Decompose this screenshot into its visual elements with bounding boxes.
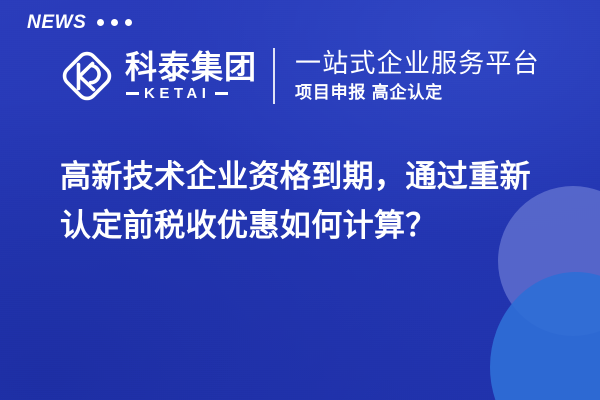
news-dot-icon — [97, 19, 104, 26]
ketai-diamond-k-logo-icon — [58, 47, 116, 105]
brand-header: 科泰集团 KETAI 一站式企业服务平台 项目申报 高企认定 — [58, 42, 540, 110]
brand-name-cn: 科泰集团 — [125, 51, 257, 84]
headline-block: 高新技术企业资格到期，通过重新 认定前税收优惠如何计算？ — [60, 152, 570, 250]
headline-line-1: 高新技术企业资格到期，通过重新 — [60, 152, 570, 201]
wordmark-rule-left — [126, 92, 139, 95]
news-dots-icon — [97, 19, 132, 26]
brand-divider — [273, 48, 275, 104]
wordmark-rule-right — [215, 92, 228, 95]
slogan-block: 一站式企业服务平台 项目申报 高企认定 — [295, 49, 540, 103]
slogan-secondary: 项目申报 高企认定 — [295, 82, 540, 103]
slogan-primary: 一站式企业服务平台 — [295, 49, 540, 78]
news-banner: NEWS 科泰集团 KETAI — [0, 0, 600, 400]
brand-wordmark: 科泰集团 KETAI — [125, 51, 257, 101]
news-eyebrow: NEWS — [27, 13, 132, 32]
news-dot-icon — [111, 19, 118, 26]
news-label: NEWS — [27, 13, 86, 32]
brand-name-en-row: KETAI — [125, 86, 257, 101]
news-dot-icon — [125, 19, 132, 26]
headline-line-2: 认定前税收优惠如何计算？ — [60, 201, 570, 250]
brand-name-en: KETAI — [144, 86, 210, 101]
